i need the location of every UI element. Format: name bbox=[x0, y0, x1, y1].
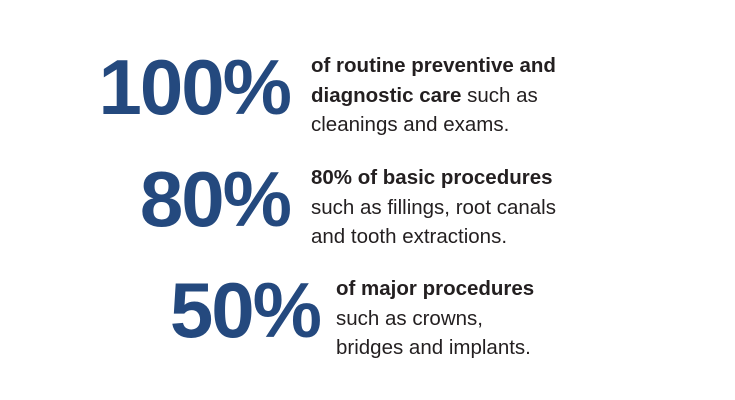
benefit-line-regular: cleanings and exams. bbox=[311, 113, 509, 136]
benefit-row-100: 100% of routine preventive and diagnosti… bbox=[0, 48, 735, 140]
benefit-line: of routine preventive and bbox=[311, 51, 556, 81]
benefit-line: such as fillings, root canals bbox=[311, 193, 556, 223]
benefit-line-regular: such as fillings, root canals bbox=[311, 196, 556, 219]
benefit-line: cleanings and exams. bbox=[311, 110, 556, 140]
benefit-line: bridges and implants. bbox=[336, 333, 534, 363]
benefit-line: and tooth extractions. bbox=[311, 222, 556, 252]
benefit-percent-80: 80% bbox=[0, 160, 290, 238]
benefit-description-50: of major procedures such as crowns, brid… bbox=[336, 274, 534, 363]
benefit-description-100: of routine preventive and diagnostic car… bbox=[311, 51, 556, 140]
benefit-line-regular: such as bbox=[461, 84, 537, 107]
benefit-line: diagnostic care such as bbox=[311, 81, 556, 111]
benefit-line-bold: 80% of basic procedures bbox=[311, 166, 553, 189]
benefit-line: of major procedures bbox=[336, 274, 534, 304]
benefit-percent-100: 100% bbox=[0, 48, 290, 126]
benefit-line-regular: bridges and implants. bbox=[336, 336, 531, 359]
coverage-benefits-infographic: 100% of routine preventive and diagnosti… bbox=[0, 0, 735, 400]
benefit-row-80: 80% 80% of basic procedures such as fill… bbox=[0, 160, 735, 252]
benefit-line-regular: and tooth extractions. bbox=[311, 225, 507, 248]
benefit-line-bold: of routine preventive and bbox=[311, 54, 556, 77]
benefit-line-bold: of major procedures bbox=[336, 277, 534, 300]
benefit-line: 80% of basic procedures bbox=[311, 163, 556, 193]
benefit-line: such as crowns, bbox=[336, 304, 534, 334]
benefit-percent-50: 50% bbox=[0, 271, 320, 349]
benefit-row-50: 50% of major procedures such as crowns, … bbox=[0, 271, 735, 363]
benefit-description-80: 80% of basic procedures such as fillings… bbox=[311, 163, 556, 252]
benefit-line-bold: diagnostic care bbox=[311, 84, 461, 107]
benefit-line-regular: such as crowns, bbox=[336, 307, 483, 330]
